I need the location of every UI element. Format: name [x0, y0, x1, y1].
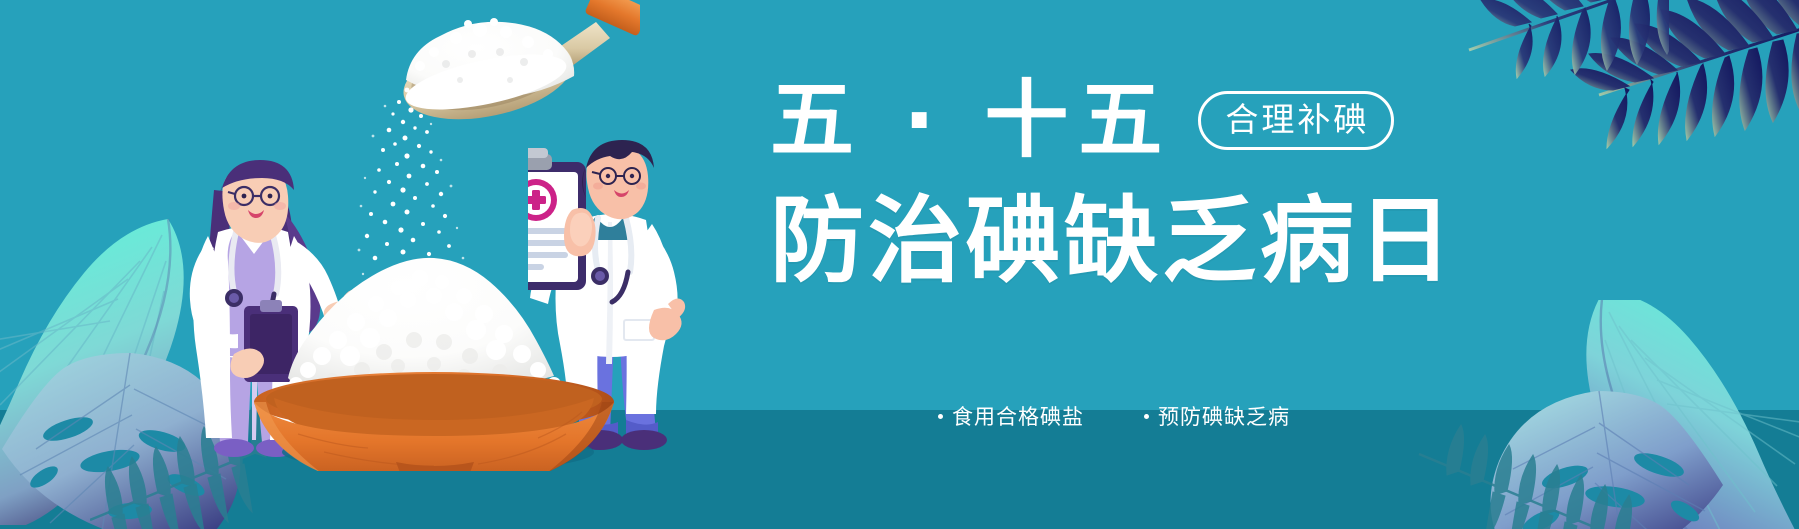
- headline-badge: 合理补碘: [1198, 91, 1394, 150]
- terracotta-bowl-of-salt-icon: [238, 256, 630, 471]
- tagline-row: 食用合格碘盐 预防碘缺乏病: [938, 398, 1290, 434]
- headline-date-row: 五 · 十五 合理补碘: [770, 72, 1430, 168]
- headline-date: 五 · 十五: [770, 72, 1172, 168]
- bullet-dot-icon: [938, 414, 943, 419]
- headline-main: 防治碘缺乏病日: [770, 186, 1430, 298]
- headline-block: 五 · 十五 合理补碘 防治碘缺乏病日: [770, 72, 1430, 332]
- bullet-dot-icon: [1144, 414, 1149, 419]
- banner-root: 五 · 十五 合理补碘 防治碘缺乏病日 食用合格碘盐 预防碘缺乏病: [0, 0, 1799, 529]
- tagline-item-1: 食用合格碘盐: [938, 401, 1084, 431]
- tagline-item-2: 预防碘缺乏病: [1144, 401, 1290, 431]
- tagline-label-1: 食用合格碘盐: [952, 401, 1084, 431]
- tagline-label-2: 预防碘缺乏病: [1158, 401, 1290, 431]
